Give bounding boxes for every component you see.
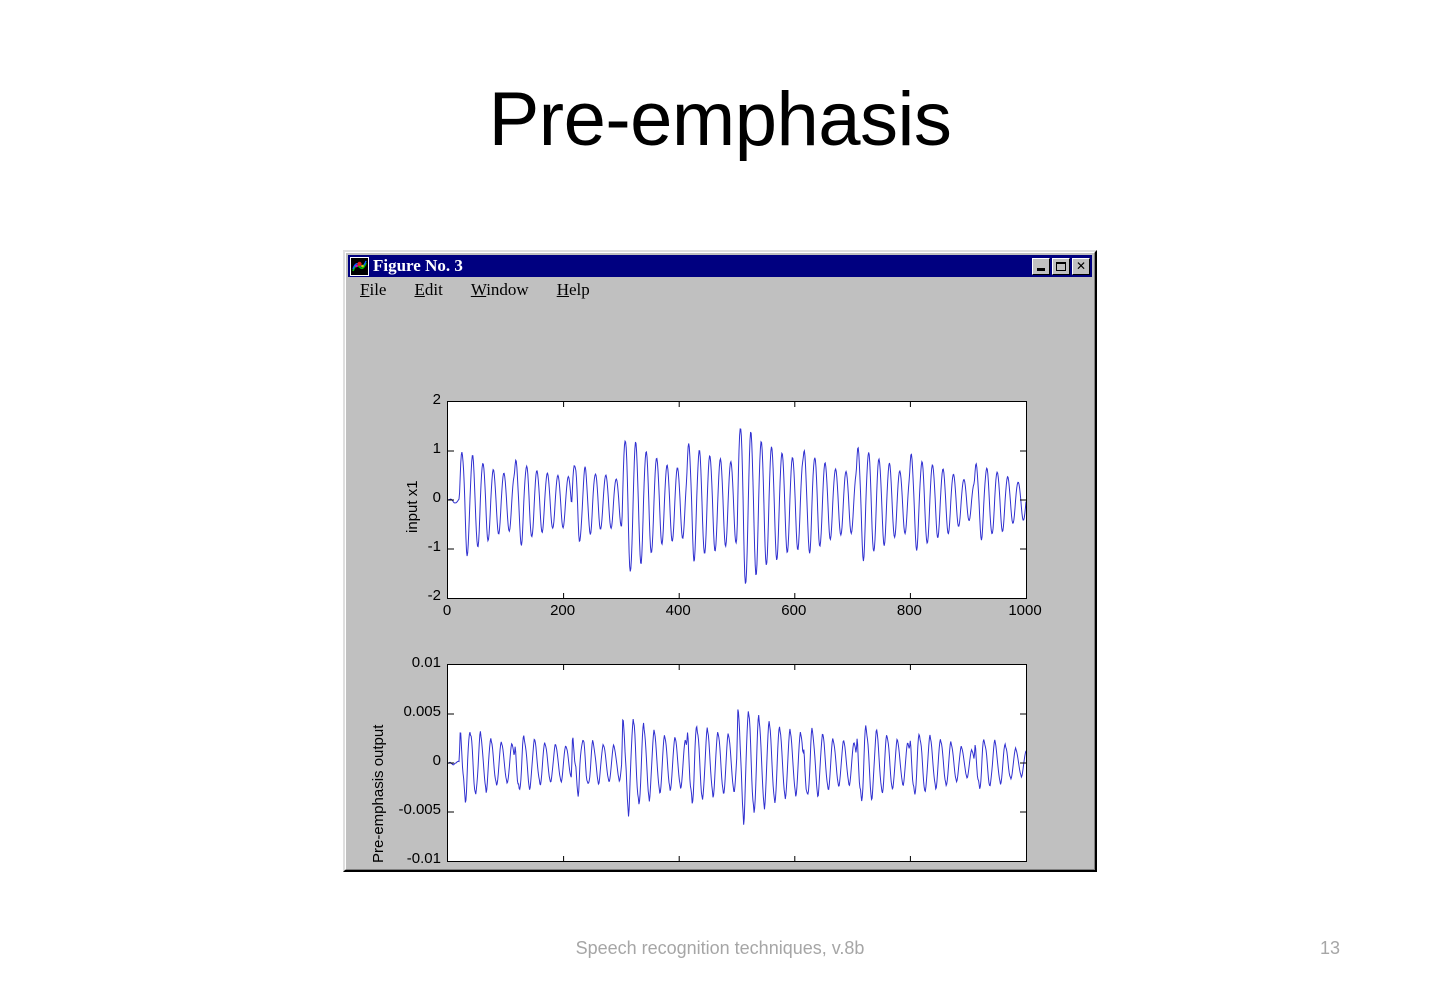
footer-page-number: 13 (1280, 938, 1380, 959)
menu-item-edit[interactable]: Edit (414, 280, 442, 300)
x-tick-label-bottom: 600 (754, 865, 834, 867)
menu-item-window[interactable]: Window (471, 280, 529, 300)
data-line (448, 710, 1026, 825)
x-tick-label-bottom: 200 (523, 865, 603, 867)
y-tick-label-bottom: 0.01 (373, 654, 441, 671)
maximize-button[interactable] (1052, 258, 1070, 275)
y-tick-label-top: -2 (373, 587, 441, 604)
y-tick-label-bottom: 0 (373, 752, 441, 769)
preemphasis-output-plot (448, 665, 1026, 861)
footer-note: Speech recognition techniques, v.8b (0, 938, 1440, 959)
menu-item-help[interactable]: Help (557, 280, 590, 300)
y-tick-label-bottom: -0.005 (373, 801, 441, 818)
minimize-icon (1033, 259, 1049, 274)
axes-preemphasis-output[interactable] (447, 664, 1027, 862)
matlab-figure-window[interactable]: Figure No. 3 ✕ File Edit Window Help inp… (343, 250, 1097, 872)
x-tick-label-top: 200 (523, 602, 603, 619)
close-button[interactable]: ✕ (1072, 258, 1090, 275)
x-tick-label-bottom: 1000 (985, 865, 1065, 867)
figure-canvas: input x1 Pre-emphasis output 02004006008… (348, 303, 1092, 867)
x-tick-label-top: 800 (869, 602, 949, 619)
x-tick-label-top: 0 (407, 602, 487, 619)
axes-bottom-ylabel: Pre-emphasis output (370, 725, 387, 863)
minimize-button[interactable] (1032, 258, 1050, 275)
y-tick-label-bottom: -0.01 (373, 850, 441, 867)
y-tick-label-top: 0 (373, 489, 441, 506)
x-tick-label-top: 400 (638, 602, 718, 619)
window-controls: ✕ (1032, 258, 1090, 275)
close-icon: ✕ (1073, 259, 1089, 274)
menu-item-file[interactable]: File (360, 280, 386, 300)
y-tick-label-top: 2 (373, 391, 441, 408)
maximize-icon (1053, 259, 1069, 274)
input-signal-plot (448, 402, 1026, 598)
x-tick-label-top: 1000 (985, 602, 1065, 619)
x-tick-label-top: 600 (754, 602, 834, 619)
window-title: Figure No. 3 (373, 255, 463, 277)
x-tick-label-bottom: 400 (638, 865, 718, 867)
y-tick-label-bottom: 0.005 (373, 703, 441, 720)
data-line (448, 429, 1026, 584)
matlab-membrane-icon (350, 257, 369, 276)
axes-input-signal[interactable] (447, 401, 1027, 599)
page-title: Pre-emphasis (0, 76, 1440, 163)
titlebar[interactable]: Figure No. 3 ✕ (348, 255, 1092, 277)
menubar: File Edit Window Help (348, 277, 1092, 304)
y-tick-label-top: 1 (373, 440, 441, 457)
figure-window-frame: Figure No. 3 ✕ File Edit Window Help inp… (345, 252, 1095, 870)
x-tick-label-bottom: 800 (869, 865, 949, 867)
y-tick-label-top: -1 (373, 538, 441, 555)
